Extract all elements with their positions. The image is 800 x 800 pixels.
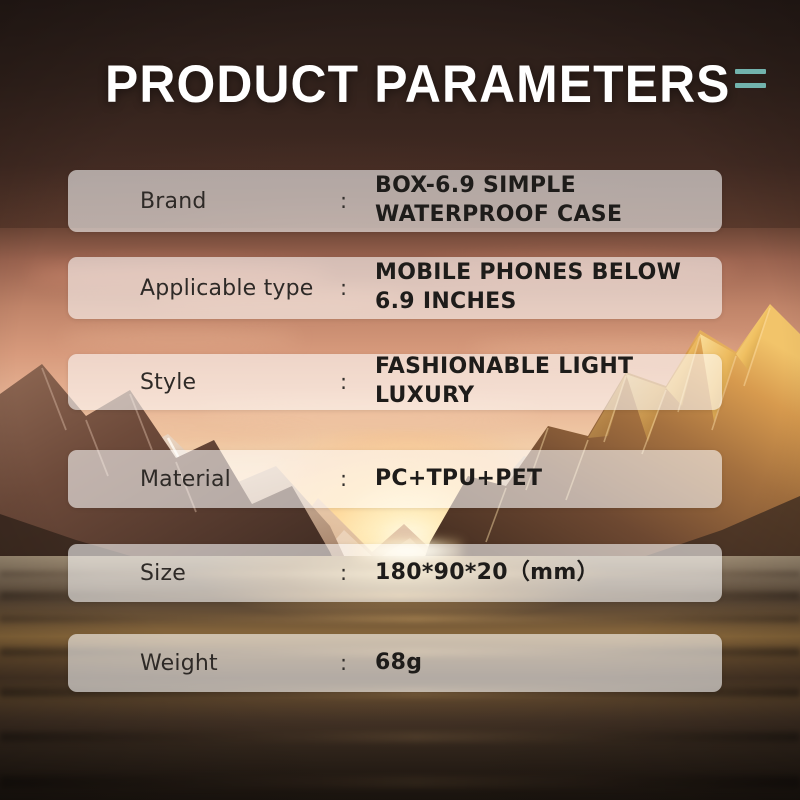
product-parameters-infographic: PRODUCT PARAMETERS Brand : BOX-6.9 SIMPL… xyxy=(0,0,800,800)
parameter-row-brand: Brand : BOX-6.9 SIMPLE WATERPROOF CASE xyxy=(68,170,722,232)
parameters-list: Brand : BOX-6.9 SIMPLE WATERPROOF CASE A… xyxy=(0,0,800,800)
parameter-label: Style xyxy=(140,370,340,395)
parameter-separator: : xyxy=(340,561,375,585)
parameter-separator: : xyxy=(340,276,375,300)
parameter-row-material: Material : PC+TPU+PET xyxy=(68,450,722,508)
parameter-label: Brand xyxy=(140,189,340,214)
parameter-label: Material xyxy=(140,467,340,492)
parameter-row-size: Size : 180*90*20（mm） xyxy=(68,544,722,602)
parameter-separator: : xyxy=(340,370,375,394)
parameter-label: Weight xyxy=(140,651,340,676)
parameter-separator: : xyxy=(340,651,375,675)
parameter-value: FASHIONABLE LIGHT LUXURY xyxy=(375,353,722,410)
parameter-value: 68g xyxy=(375,649,722,678)
parameter-row-style: Style : FASHIONABLE LIGHT LUXURY xyxy=(68,354,722,410)
parameter-row-weight: Weight : 68g xyxy=(68,634,722,692)
parameter-label: Applicable type xyxy=(140,276,340,301)
parameter-value: BOX-6.9 SIMPLE WATERPROOF CASE xyxy=(375,172,722,229)
parameter-label: Size xyxy=(140,561,340,586)
parameter-value: 180*90*20（mm） xyxy=(375,559,722,588)
parameter-separator: : xyxy=(340,467,375,491)
parameter-row-applicable-type: Applicable type : MOBILE PHONES BELOW 6.… xyxy=(68,257,722,319)
parameter-value: MOBILE PHONES BELOW 6.9 INCHES xyxy=(375,259,722,316)
parameter-value: PC+TPU+PET xyxy=(375,465,722,494)
parameter-separator: : xyxy=(340,189,375,213)
